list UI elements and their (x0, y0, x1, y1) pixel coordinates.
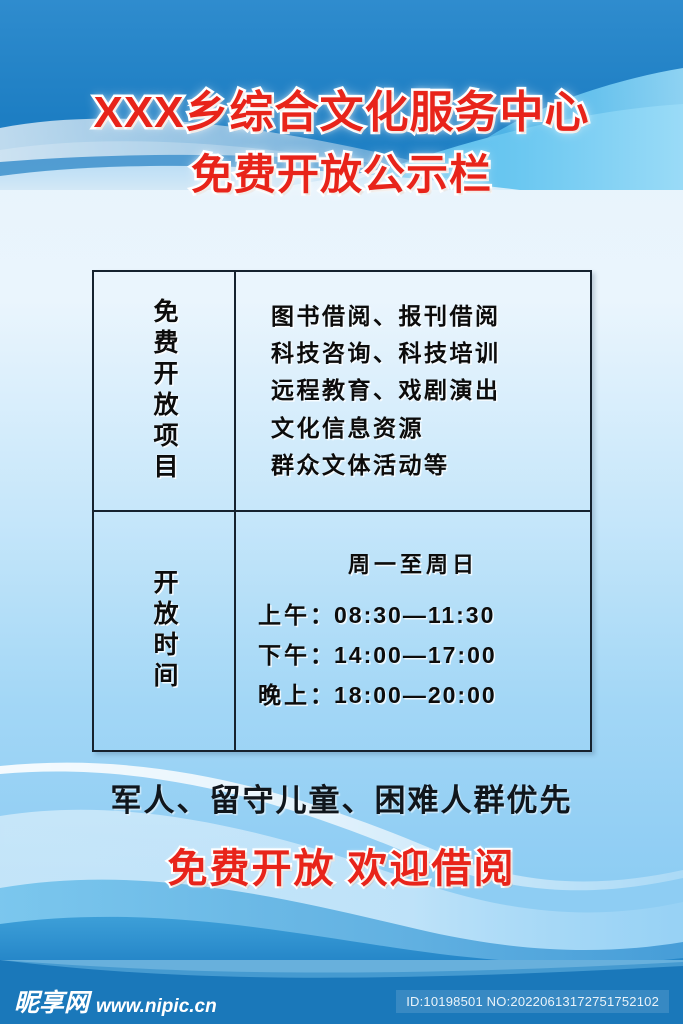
hours-colon: ： (310, 682, 334, 708)
hours-period-label: 下午 (258, 642, 310, 668)
poster-title-line2: 免费开放公示栏 (0, 151, 683, 198)
nipic-logo-text: 昵享网 (14, 991, 89, 1016)
hours-time-range: 18:00—20:00 (334, 682, 497, 708)
watermark-curve (0, 960, 683, 990)
poster-header: XXX乡综合文化服务中心 免费开放公示栏 (0, 88, 683, 198)
open-hours-list: 上午：08:30—11:30 下午：14:00—17:00 晚上：18:00—2… (236, 595, 590, 716)
table-row-open-items: 免费开放项目 图书借阅、报刊借阅 科技咨询、科技培训 远程教育、戏剧演出 文化信… (94, 272, 590, 512)
list-item: 下午：14:00—17:00 (258, 635, 590, 675)
hours-time-range: 14:00—17:00 (334, 642, 497, 668)
hours-colon: ： (310, 642, 334, 668)
hours-period-label: 晚上 (258, 682, 310, 708)
open-items-list: 图书借阅、报刊借阅 科技咨询、科技培训 远程教育、戏剧演出 文化信息资源 群众文… (236, 298, 590, 484)
watermark-brand: 昵享网 www.nipic.cn (14, 991, 217, 1016)
info-board-table: 免费开放项目 图书借阅、报刊借阅 科技咨询、科技培训 远程教育、戏剧演出 文化信… (92, 270, 592, 752)
hours-colon: ： (310, 602, 334, 628)
list-item: 远程教育、戏剧演出 (271, 372, 590, 409)
nipic-url-text: www.nipic.cn (96, 997, 217, 1016)
list-item: 文化信息资源 (271, 410, 590, 447)
row-label-open-hours: 开放时间 (146, 569, 182, 693)
watermark-id-text: ID:10198501 NO:20220613172751752102 (396, 990, 669, 1013)
hours-period-label: 上午 (258, 602, 310, 628)
row-content-cell-items: 图书借阅、报刊借阅 科技咨询、科技培训 远程教育、戏剧演出 文化信息资源 群众文… (236, 272, 590, 510)
poster-title-line1: XXX乡综合文化服务中心 (0, 88, 683, 137)
row-label-cell-items: 免费开放项目 (94, 272, 236, 510)
poster-canvas: XXX乡综合文化服务中心 免费开放公示栏 免费开放项目 图书借阅、报刊借阅 科技… (0, 0, 683, 1024)
row-label-cell-hours: 开放时间 (94, 512, 236, 750)
list-item: 图书借阅、报刊借阅 (271, 298, 590, 335)
list-item: 晚上：18:00—20:00 (258, 675, 590, 715)
table-row-open-hours: 开放时间 周一至周日 上午：08:30—11:30 下午：14:00—17:00… (94, 512, 590, 750)
priority-note-text: 军人、留守儿童、困难人群优先 (0, 775, 683, 820)
open-days-text: 周一至周日 (236, 547, 590, 579)
poster-footer: 军人、留守儿童、困难人群优先 免费开放 欢迎借阅 (0, 775, 683, 894)
hours-time-range: 08:30—11:30 (334, 602, 495, 628)
slogan-text: 免费开放 欢迎借阅 (0, 836, 683, 894)
row-content-cell-hours: 周一至周日 上午：08:30—11:30 下午：14:00—17:00 晚上：1… (236, 512, 590, 750)
row-label-open-items: 免费开放项目 (146, 298, 182, 484)
list-item: 群众文体活动等 (271, 447, 590, 484)
list-item: 科技咨询、科技培训 (271, 335, 590, 372)
list-item: 上午：08:30—11:30 (258, 595, 590, 635)
watermark-bar: 昵享网 www.nipic.cn ID:10198501 NO:20220613… (0, 960, 683, 1024)
